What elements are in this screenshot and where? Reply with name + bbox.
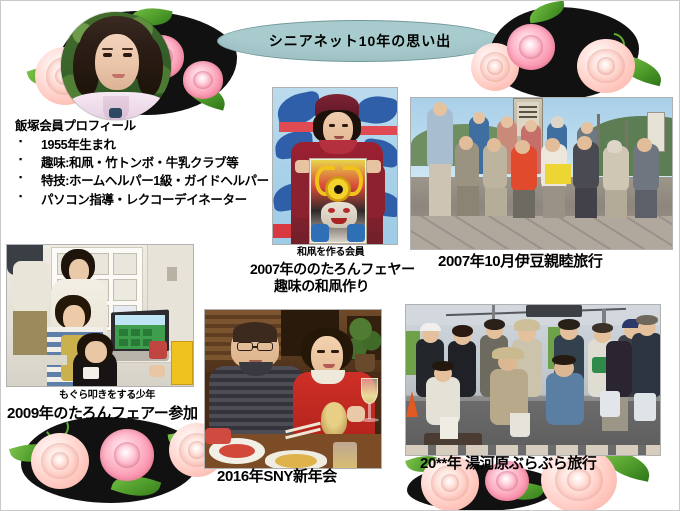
rose-stem-curl <box>596 28 630 62</box>
yugawara-trip-photo <box>405 304 661 456</box>
page-title: シニアネット10年の思い出 <box>269 31 452 51</box>
rose-decoration-bottom-left <box>1 409 231 511</box>
rose-shadow-blob <box>489 7 639 99</box>
rose-bloom <box>493 11 569 83</box>
profile-list: 1955年生まれ 趣味:和凧・竹トンボ・牛乳クラブ等 特技:ホームヘルパー1級・… <box>15 136 315 209</box>
rose-leaf <box>181 77 229 110</box>
list-item: 特技:ホームヘルパー1級・ガイドヘルパー <box>15 172 315 190</box>
list-item: 趣味:和凧・竹トンボ・牛乳クラブ等 <box>15 154 315 172</box>
rose-bloom <box>85 415 169 495</box>
member-portrait <box>61 12 171 120</box>
rose-leaf <box>111 468 162 503</box>
rose-shadow-blob <box>21 417 201 503</box>
rose-leaf <box>615 54 665 86</box>
profile-heading: 飯塚会員プロフィール <box>15 117 315 135</box>
slide-title-banner: シニアネット10年の思い出 <box>217 20 503 62</box>
rose-bloom <box>577 39 635 93</box>
notaron-2007-caption-line1: 2007年ののたろんフェヤー <box>250 261 415 277</box>
list-item: 1955年生まれ <box>15 136 315 154</box>
member-profile-block: 飯塚会員プロフィール 1955年生まれ 趣味:和凧・竹トンボ・牛乳クラブ等 特技… <box>15 117 315 209</box>
mogura-caption: もぐら叩きをする少年 <box>59 390 155 402</box>
rose-bloom <box>171 51 235 109</box>
pc-classroom-photo <box>6 244 194 387</box>
yugawara-trip-caption: 20**年 湯河原ぶらぶら旅行 <box>420 455 597 472</box>
rose-leaf <box>528 1 566 24</box>
new-year-party-photo <box>204 309 382 469</box>
sny-2016-caption: 2016年SNY新年会 <box>217 468 337 485</box>
list-item: パソコン指導・レクコーデイネーター <box>15 191 315 209</box>
rose-leaf <box>499 476 545 507</box>
rose-bloom <box>31 433 89 489</box>
kite-photo-caption: 和凧を作る会員 <box>297 247 364 259</box>
presentation-slide: シニアネット10年の思い出 飯塚会員プロフィール 1955年生まれ 趣味:和凧・… <box>0 0 680 511</box>
notaron-2009-caption: 2009年のたろんフェアー参加 <box>7 405 198 422</box>
izu-trip-photo <box>410 97 673 250</box>
notaron-2007-caption-line2: 趣味の和凧作り <box>274 278 369 294</box>
izu-trip-caption: 2007年10月伊豆親睦旅行 <box>438 253 602 270</box>
rose-leaf <box>9 438 55 469</box>
